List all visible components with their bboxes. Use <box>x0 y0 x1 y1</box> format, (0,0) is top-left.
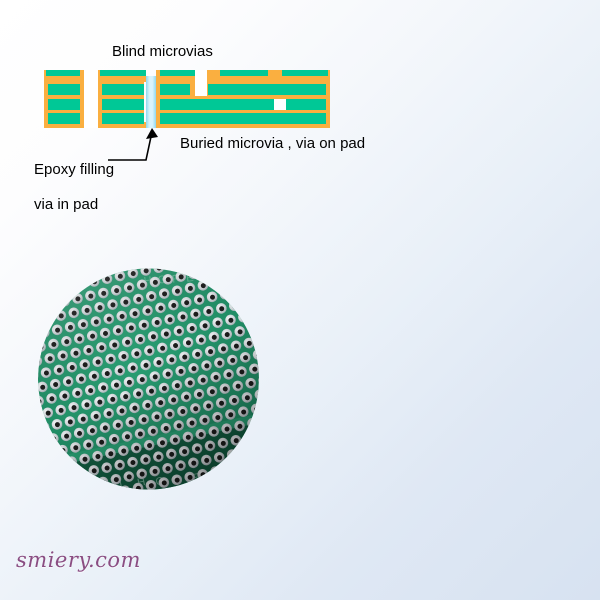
through-hole <box>66 284 72 290</box>
through-hole <box>239 463 245 469</box>
through-hole <box>248 475 254 481</box>
solder-pad <box>49 283 62 296</box>
through-hole <box>244 489 250 490</box>
solder-pad <box>256 334 259 347</box>
solder-pad <box>38 268 43 273</box>
through-hole <box>88 482 94 488</box>
through-hole <box>43 465 49 471</box>
through-hole <box>257 298 259 304</box>
solder-pad <box>92 268 105 273</box>
through-hole <box>196 486 202 490</box>
solder-pad <box>38 409 41 422</box>
through-hole <box>252 461 258 467</box>
through-hole <box>209 483 215 489</box>
solder-pad <box>228 488 241 490</box>
through-hole <box>95 268 101 270</box>
solder-pad <box>213 268 226 275</box>
solder-pad <box>178 268 191 269</box>
solder-pad <box>235 460 248 473</box>
through-hole <box>250 421 256 427</box>
solder-pad <box>53 458 66 471</box>
blind-microvias-label: Blind microvias <box>112 44 213 61</box>
solder-pad <box>84 478 97 490</box>
solder-pad <box>239 446 252 459</box>
solder-pad <box>62 281 75 294</box>
photo-lighting-overlay <box>38 268 259 490</box>
solder-pad <box>38 275 40 288</box>
epoxy-filling-label: Epoxy filling <box>34 162 114 179</box>
solder-pad <box>193 482 206 490</box>
solder-pad <box>222 274 235 287</box>
solder-pad <box>248 268 259 281</box>
through-hole <box>49 301 55 307</box>
through-hole <box>38 439 44 445</box>
through-hole <box>183 489 189 490</box>
solder-pad <box>254 294 259 307</box>
solder-pad <box>106 487 119 490</box>
solder-pad <box>38 475 48 488</box>
through-hole <box>45 316 51 322</box>
through-hole <box>255 446 259 452</box>
solder-pad <box>38 300 45 313</box>
solder-pad <box>252 443 259 456</box>
solder-pad <box>44 268 57 270</box>
solder-pad <box>226 268 239 272</box>
through-hole <box>242 449 248 455</box>
solder-pad <box>38 449 43 462</box>
through-hole <box>257 487 259 490</box>
through-hole <box>40 290 46 296</box>
solder-pad <box>232 285 245 298</box>
solder-pad <box>241 297 254 310</box>
solder-pad <box>206 480 219 490</box>
solder-pad <box>210 276 223 289</box>
through-hole <box>44 276 50 282</box>
solder-pad <box>235 271 248 284</box>
solder-pad <box>43 447 56 460</box>
through-hole <box>254 312 259 318</box>
solder-pad <box>38 286 49 299</box>
solder-pad <box>257 280 259 293</box>
solder-pad <box>222 463 235 476</box>
through-hole <box>47 450 53 456</box>
through-hole <box>235 289 241 295</box>
through-hole <box>53 476 59 482</box>
through-hole <box>42 330 48 336</box>
through-hole <box>38 453 40 459</box>
through-hole <box>62 488 68 490</box>
perfboard-photo: L K J I H G F E D H G F E <box>38 268 259 490</box>
solder-pad <box>244 471 257 484</box>
through-hole <box>213 469 219 475</box>
through-hole <box>204 268 210 274</box>
page-canvas: Blind microvias <box>0 0 600 600</box>
through-hole <box>38 304 42 310</box>
through-hole <box>222 480 228 486</box>
through-hole <box>78 471 84 477</box>
solder-pad <box>245 282 258 295</box>
solder-pad <box>40 461 53 474</box>
through-hole <box>250 326 256 332</box>
site-watermark: smiery.com <box>16 548 141 572</box>
solder-pad <box>71 481 84 490</box>
through-hole <box>239 274 245 280</box>
solder-pad <box>250 308 259 321</box>
svg-text:L: L <box>62 474 70 487</box>
through-hole <box>75 485 81 490</box>
pcb-cross-section-diagram <box>44 66 330 132</box>
through-hole <box>56 462 62 468</box>
solder-pad <box>231 474 244 487</box>
through-hole <box>57 273 63 279</box>
through-hole <box>40 479 46 485</box>
cross-section-svg <box>44 66 330 132</box>
through-hole <box>230 268 236 269</box>
through-hole <box>252 272 258 278</box>
through-hole <box>82 268 88 273</box>
through-hole <box>217 268 223 272</box>
through-hole <box>65 473 71 479</box>
buried-microvia-label: Buried microvia , via on pad <box>180 136 365 153</box>
solder-pad <box>253 483 259 490</box>
solder-pad <box>241 486 254 490</box>
solder-pad <box>62 470 75 483</box>
svg-text:K: K <box>81 475 91 488</box>
solder-pad <box>58 484 71 490</box>
through-hole <box>222 291 228 297</box>
through-hole <box>123 488 129 490</box>
solder-pad <box>257 469 259 482</box>
through-hole <box>42 424 48 430</box>
solder-pad <box>53 269 66 282</box>
solder-pad <box>255 428 259 441</box>
solder-pad <box>79 268 92 276</box>
solder-pad <box>40 272 53 285</box>
buried-microvia-void <box>274 99 286 110</box>
through-hole <box>79 282 85 288</box>
through-hole <box>245 300 251 306</box>
solder-pad <box>218 477 231 490</box>
through-hole <box>191 271 197 277</box>
through-hole <box>213 280 219 286</box>
solder-pad <box>248 457 259 470</box>
solder-pad <box>45 298 58 311</box>
through-hole <box>62 299 68 305</box>
solder-pad <box>38 315 41 328</box>
solder-pad <box>38 489 45 490</box>
through-hole <box>246 435 252 441</box>
svg-text:D: D <box>209 470 219 483</box>
through-hole <box>241 315 247 321</box>
through-hole <box>248 286 254 292</box>
solder-pad <box>239 268 252 269</box>
solder-pad <box>167 488 180 490</box>
solder-pad <box>38 464 39 477</box>
via-in-pad-label: via in pad <box>34 197 98 214</box>
solder-pad <box>45 487 58 490</box>
through-hole <box>53 287 59 293</box>
epoxy-filled-via <box>146 76 156 128</box>
solder-pad <box>66 268 79 279</box>
through-hole <box>38 268 40 270</box>
solder-pad <box>180 485 193 490</box>
through-hole <box>226 277 232 283</box>
through-hole <box>235 478 241 484</box>
solder-pad <box>42 312 55 325</box>
solder-pad <box>38 435 47 448</box>
solder-pad <box>104 268 117 271</box>
perfboard-svg: L K J I H G F E D H G F E <box>38 268 259 490</box>
through-hole <box>226 466 232 472</box>
through-hole <box>69 270 75 276</box>
solder-pad <box>200 268 213 277</box>
solder-pad <box>49 472 62 485</box>
